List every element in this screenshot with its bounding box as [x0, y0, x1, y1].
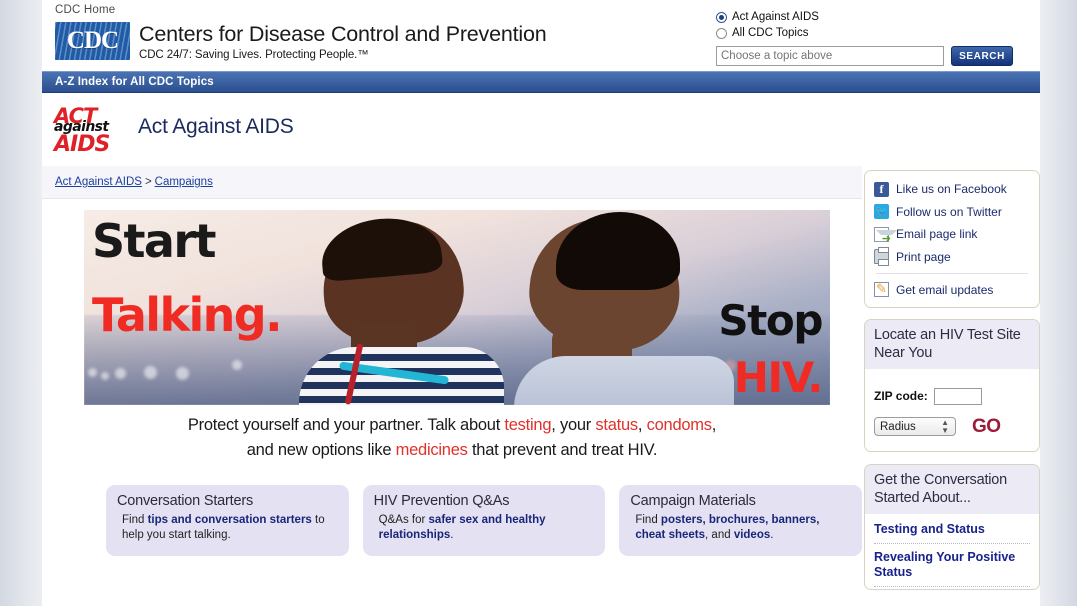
facebook-icon: f: [874, 182, 889, 197]
conversation-link-testing-and-status[interactable]: Testing and Status: [874, 516, 1030, 544]
card-desc-bold: tips and conversation starters: [148, 514, 312, 526]
hero-person-right: [504, 210, 734, 405]
cdc-logo-letters: CDC: [55, 22, 130, 60]
conversation-link-revealing-your-positive-status[interactable]: Revealing Your Positive Status: [874, 544, 1030, 587]
radio-label-act-against-aids: Act Against AIDS: [732, 10, 819, 25]
agency-tagline: CDC 24/7: Saving Lives. Protecting Peopl…: [139, 49, 546, 61]
search-scope-act-against-aids[interactable]: Act Against AIDS: [716, 10, 1028, 25]
bokeh-light: [115, 368, 126, 379]
twitter-icon: 🐦: [874, 204, 889, 219]
cdc-header: CDC Home CDC Centers for Disease Control…: [42, 0, 1040, 71]
bokeh-light: [144, 366, 157, 379]
card-title: Conversation Starters: [117, 493, 338, 509]
hero-text-stop: Stop: [718, 296, 822, 345]
social-label: Follow us on Twitter: [896, 205, 1002, 219]
desc-link-status[interactable]: status: [595, 416, 638, 434]
card-desc-post: .: [450, 529, 453, 541]
zip-row: ZIP code:: [865, 369, 1039, 405]
conversation-links: Testing and Status Revealing Your Positi…: [865, 514, 1039, 589]
cdc-logo[interactable]: CDC Centers for Disease Control and Prev…: [55, 22, 546, 61]
card-desc-pre: Find: [122, 514, 148, 526]
desc-link-testing[interactable]: testing: [504, 416, 551, 434]
search-row: SEARCH: [716, 46, 1028, 66]
desc-link-condoms[interactable]: condoms: [647, 416, 712, 434]
page-background-left: [0, 0, 42, 606]
az-index-label: A-Z Index for All CDC Topics: [55, 76, 214, 88]
social-link-print[interactable]: Print page: [874, 246, 1030, 268]
desc-part-1: Protect yourself and your partner. Talk …: [188, 416, 505, 434]
person-left-hair: [319, 214, 444, 282]
act-against-aids-logo[interactable]: ACT against AIDS: [54, 104, 132, 156]
radio-selected-icon[interactable]: [716, 12, 727, 23]
card-campaign-materials[interactable]: Campaign Materials Find posters, brochur…: [619, 485, 862, 556]
conversation-heading: Get the Conversation Started About...: [865, 465, 1039, 514]
social-share-box: f Like us on Facebook 🐦 Follow us on Twi…: [864, 170, 1040, 308]
breadcrumb-band: Act Against AIDS>Campaigns: [42, 166, 862, 199]
pencil-icon: [874, 282, 889, 297]
site-logo-band: ACT against AIDS Act Against AIDS: [42, 93, 1040, 166]
main-column: Act Against AIDS>Campaigns: [42, 166, 862, 556]
hero-banner[interactable]: Start Talking. Stop HIV.: [84, 210, 830, 405]
promo-cards: Conversation Starters Find tips and conv…: [106, 485, 862, 556]
card-hiv-prevention-qas[interactable]: HIV Prevention Q&As Q&As for safer sex a…: [363, 485, 606, 556]
card-desc-pre: Q&As for: [379, 514, 429, 526]
sidebar: f Like us on Facebook 🐦 Follow us on Twi…: [864, 170, 1040, 590]
printer-icon: [874, 249, 889, 264]
zip-input[interactable]: [934, 388, 982, 405]
hero-text-start: Start: [92, 214, 215, 268]
social-label: Email page link: [896, 227, 977, 241]
cdc-logo-text: Centers for Disease Control and Preventi…: [139, 22, 546, 61]
cdc-logo-mark: CDC: [55, 22, 130, 60]
card-description: Find posters, brochures, banners, cheat …: [630, 513, 851, 543]
card-description: Q&As for safer sex and healthy relations…: [374, 513, 595, 543]
social-divider: [876, 273, 1028, 274]
card-title: Campaign Materials: [630, 493, 851, 509]
desc-part-6: that prevent and treat HIV.: [468, 441, 658, 459]
breadcrumb-link-home[interactable]: Act Against AIDS: [55, 176, 142, 188]
hero-person-left: [299, 219, 504, 405]
bokeh-light: [176, 367, 189, 380]
hero-description: Protect yourself and your partner. Talk …: [42, 413, 862, 463]
hero-text-talking: Talking.: [92, 288, 281, 342]
page-shell: CDC Home CDC Centers for Disease Control…: [42, 0, 1040, 606]
hiv-test-locator-box: Locate an HIV Test Site Near You ZIP cod…: [864, 319, 1040, 452]
social-label: Print page: [896, 250, 951, 264]
page-background-right: [1040, 0, 1077, 606]
locator-go-button[interactable]: GO: [972, 416, 1001, 438]
radius-select[interactable]: Radius ▲▼: [874, 417, 956, 436]
social-link-twitter[interactable]: 🐦 Follow us on Twitter: [874, 201, 1030, 223]
card-title: HIV Prevention Q&As: [374, 493, 595, 509]
desc-part-5: and new options like: [247, 441, 396, 459]
social-link-facebook[interactable]: f Like us on Facebook: [874, 178, 1030, 200]
hero-text-hiv: HIV.: [734, 353, 822, 402]
radius-row: Radius ▲▼ GO: [865, 405, 1039, 451]
social-label: Like us on Facebook: [896, 182, 1007, 196]
radius-selected-value: Radius: [880, 421, 916, 433]
breadcrumb-link-campaigns[interactable]: Campaigns: [155, 176, 213, 188]
search-area: Act Against AIDS All CDC Topics SEARCH: [716, 10, 1028, 66]
email-icon: [874, 227, 889, 242]
card-desc-post-2: .: [770, 529, 773, 541]
logo-line-aids: AIDS: [54, 132, 109, 157]
select-arrows-icon: ▲▼: [941, 419, 949, 435]
search-scope-all-cdc-topics[interactable]: All CDC Topics: [716, 26, 1028, 41]
locator-heading: Locate an HIV Test Site Near You: [865, 320, 1039, 369]
content-columns: Act Against AIDS>Campaigns: [42, 166, 1040, 606]
bokeh-light: [101, 372, 109, 380]
search-button[interactable]: SEARCH: [951, 46, 1013, 66]
agency-title: Centers for Disease Control and Preventi…: [139, 23, 546, 46]
social-link-email[interactable]: Email page link: [874, 223, 1030, 245]
person-right-shirt: [514, 356, 734, 405]
zip-label: ZIP code:: [874, 389, 928, 403]
bokeh-light: [232, 360, 242, 370]
desc-part-4: ,: [712, 416, 716, 434]
bokeh-light: [88, 368, 97, 377]
cdc-home-link[interactable]: CDC Home: [55, 4, 115, 16]
desc-part-3: ,: [638, 416, 647, 434]
az-index-bar[interactable]: A-Z Index for All CDC Topics: [42, 71, 1040, 93]
card-desc-post: , and: [705, 529, 734, 541]
card-conversation-starters[interactable]: Conversation Starters Find tips and conv…: [106, 485, 349, 556]
conversation-started-box: Get the Conversation Started About... Te…: [864, 464, 1040, 590]
desc-part-2: , your: [551, 416, 595, 434]
radio-label-all-cdc-topics: All CDC Topics: [732, 26, 808, 41]
breadcrumb: Act Against AIDS>Campaigns: [55, 176, 213, 188]
card-description: Find tips and conversation starters to h…: [117, 513, 338, 543]
card-desc-bold-2: videos: [734, 529, 770, 541]
breadcrumb-separator: >: [142, 176, 155, 188]
social-link-email-updates[interactable]: Get email updates: [874, 279, 1030, 301]
social-label: Get email updates: [896, 283, 993, 297]
page-title: Act Against AIDS: [138, 115, 294, 139]
radio-unselected-icon[interactable]: [716, 28, 727, 39]
desc-link-medicines[interactable]: medicines: [396, 441, 468, 459]
card-desc-pre: Find: [635, 514, 661, 526]
search-input[interactable]: [716, 46, 944, 66]
